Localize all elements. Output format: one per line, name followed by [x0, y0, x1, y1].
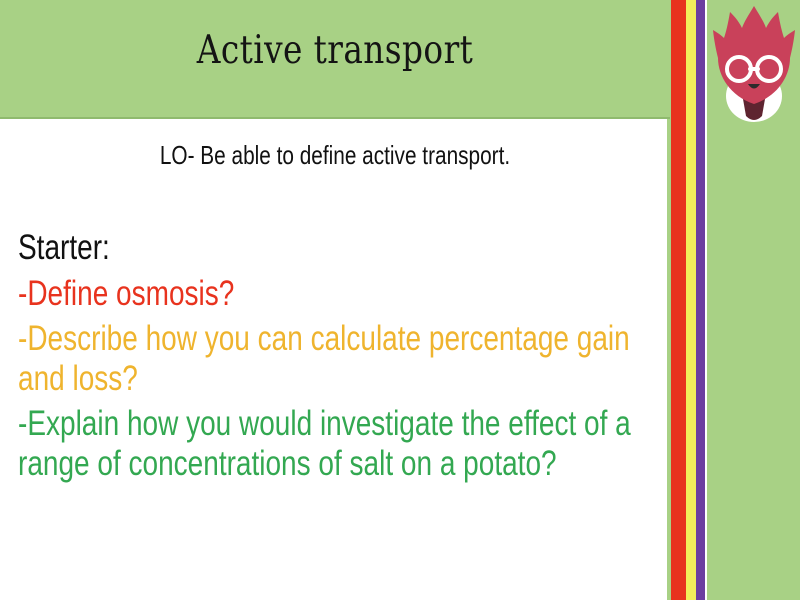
page-title: Active transport	[54, 28, 617, 73]
stripe-red	[671, 0, 686, 600]
learning-objective: LO- Be able to define active transport.	[67, 140, 603, 171]
starter-heading: Starter:	[18, 228, 658, 268]
stripe-yellow	[686, 0, 696, 600]
flame-hair-shape	[713, 6, 795, 104]
logo-flame-character-icon	[710, 4, 798, 124]
slide-canvas: Active transport LO- Be able to define a…	[0, 0, 800, 600]
starter-content: Starter: -Define osmosis? -Describe how …	[18, 228, 658, 483]
starter-question-2: -Describe how you can calculate percenta…	[18, 319, 658, 398]
starter-question-1: -Define osmosis?	[18, 274, 658, 314]
starter-question-3: -Explain how you would investigate the e…	[18, 404, 658, 483]
flame-character-svg	[710, 4, 798, 124]
stripe-purple	[696, 0, 705, 600]
